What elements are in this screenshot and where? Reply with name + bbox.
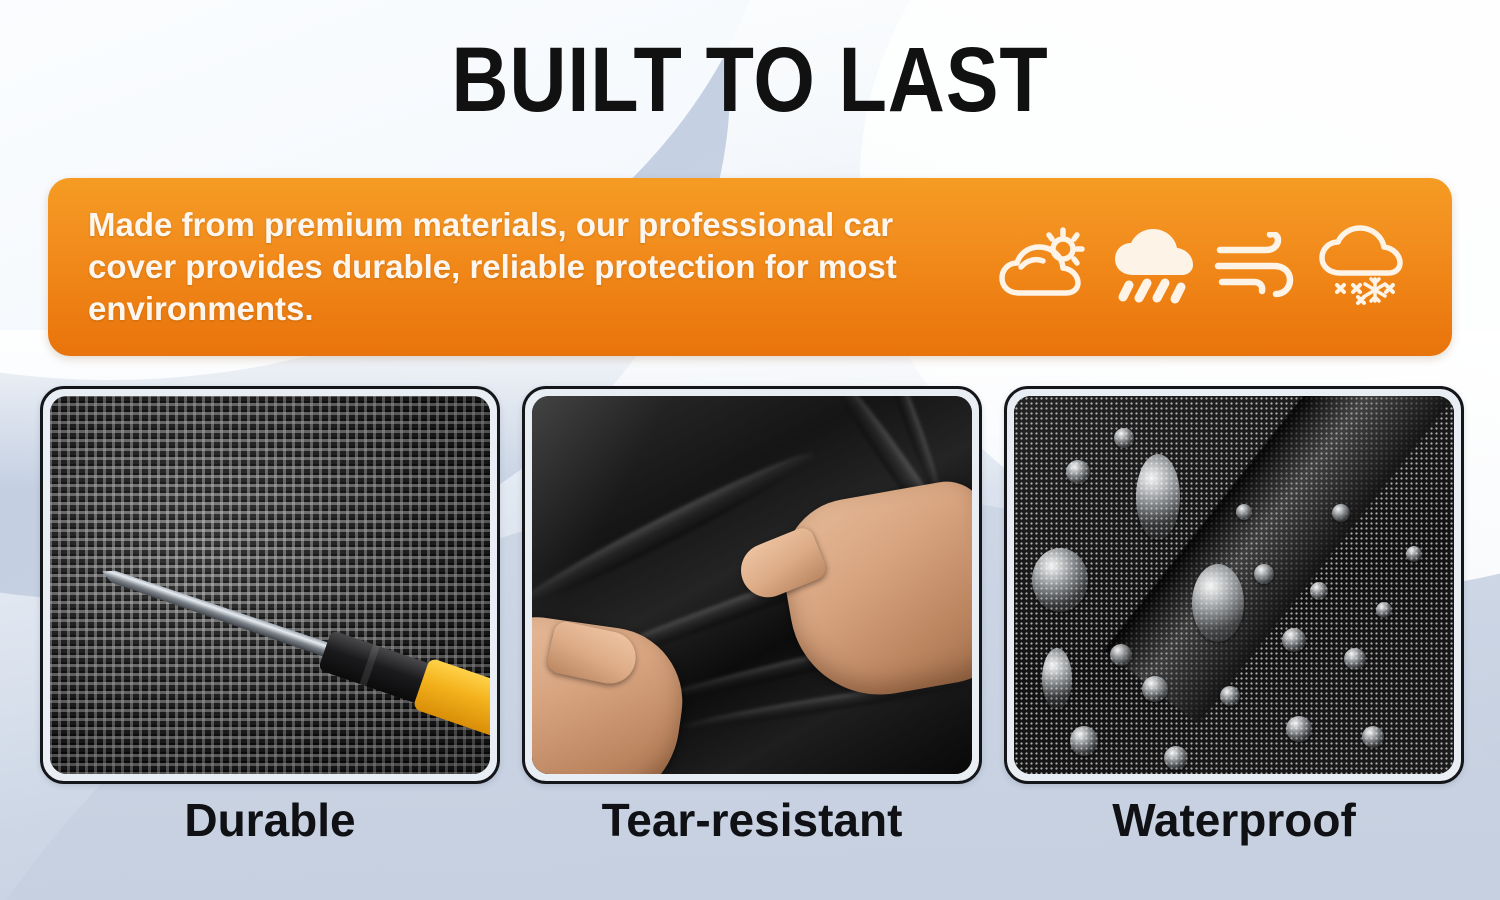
feature-label-tear-resistant: Tear-resistant	[522, 792, 982, 848]
feature-label-row: Durable Tear-resistant Waterproof	[40, 792, 1464, 848]
promo-banner-text: Made from premium materials, our profess…	[88, 204, 988, 330]
feature-card-row	[40, 386, 1464, 784]
sun-behind-cloud-icon	[997, 227, 1093, 307]
infographic-page: BUILT TO LAST Made from premium material…	[0, 0, 1500, 900]
water-droplet	[1362, 726, 1384, 748]
water-beading-fabric-photo	[1014, 396, 1454, 774]
water-droplet	[1164, 746, 1188, 770]
water-droplet	[1066, 460, 1090, 484]
hands-stretching-fabric-photo	[532, 396, 972, 774]
water-droplet	[1136, 454, 1180, 540]
water-droplet	[1282, 628, 1306, 652]
wind-icon	[1214, 232, 1298, 302]
water-droplet	[1220, 686, 1240, 706]
water-droplet	[1310, 582, 1328, 600]
feature-card-tear-resistant	[522, 386, 982, 784]
feature-label-durable: Durable	[40, 792, 500, 848]
feature-card-waterproof	[1004, 386, 1464, 784]
promo-banner: Made from premium materials, our profess…	[48, 178, 1452, 356]
woven-fabric-with-screwdriver-photo	[50, 396, 490, 774]
water-droplet	[1406, 546, 1422, 562]
feature-label-waterproof: Waterproof	[1004, 792, 1464, 848]
water-droplet	[1142, 676, 1168, 702]
weather-icon-group	[988, 225, 1426, 309]
water-droplet	[1286, 716, 1312, 742]
water-droplet	[1042, 648, 1072, 710]
page-title: BUILT TO LAST	[105, 28, 1395, 132]
water-droplet	[1332, 504, 1350, 522]
water-droplet	[1192, 564, 1244, 642]
water-droplet	[1032, 548, 1088, 612]
feature-card-durable	[40, 386, 500, 784]
snow-cloud-icon	[1317, 225, 1407, 309]
water-droplet	[1344, 648, 1366, 670]
rain-cloud-icon	[1112, 227, 1196, 307]
water-droplet	[1114, 428, 1134, 448]
water-droplet	[1376, 602, 1392, 618]
water-droplet	[1254, 564, 1274, 584]
water-droplet	[1236, 504, 1252, 520]
water-droplet	[1110, 644, 1132, 666]
water-droplet	[1070, 726, 1098, 756]
